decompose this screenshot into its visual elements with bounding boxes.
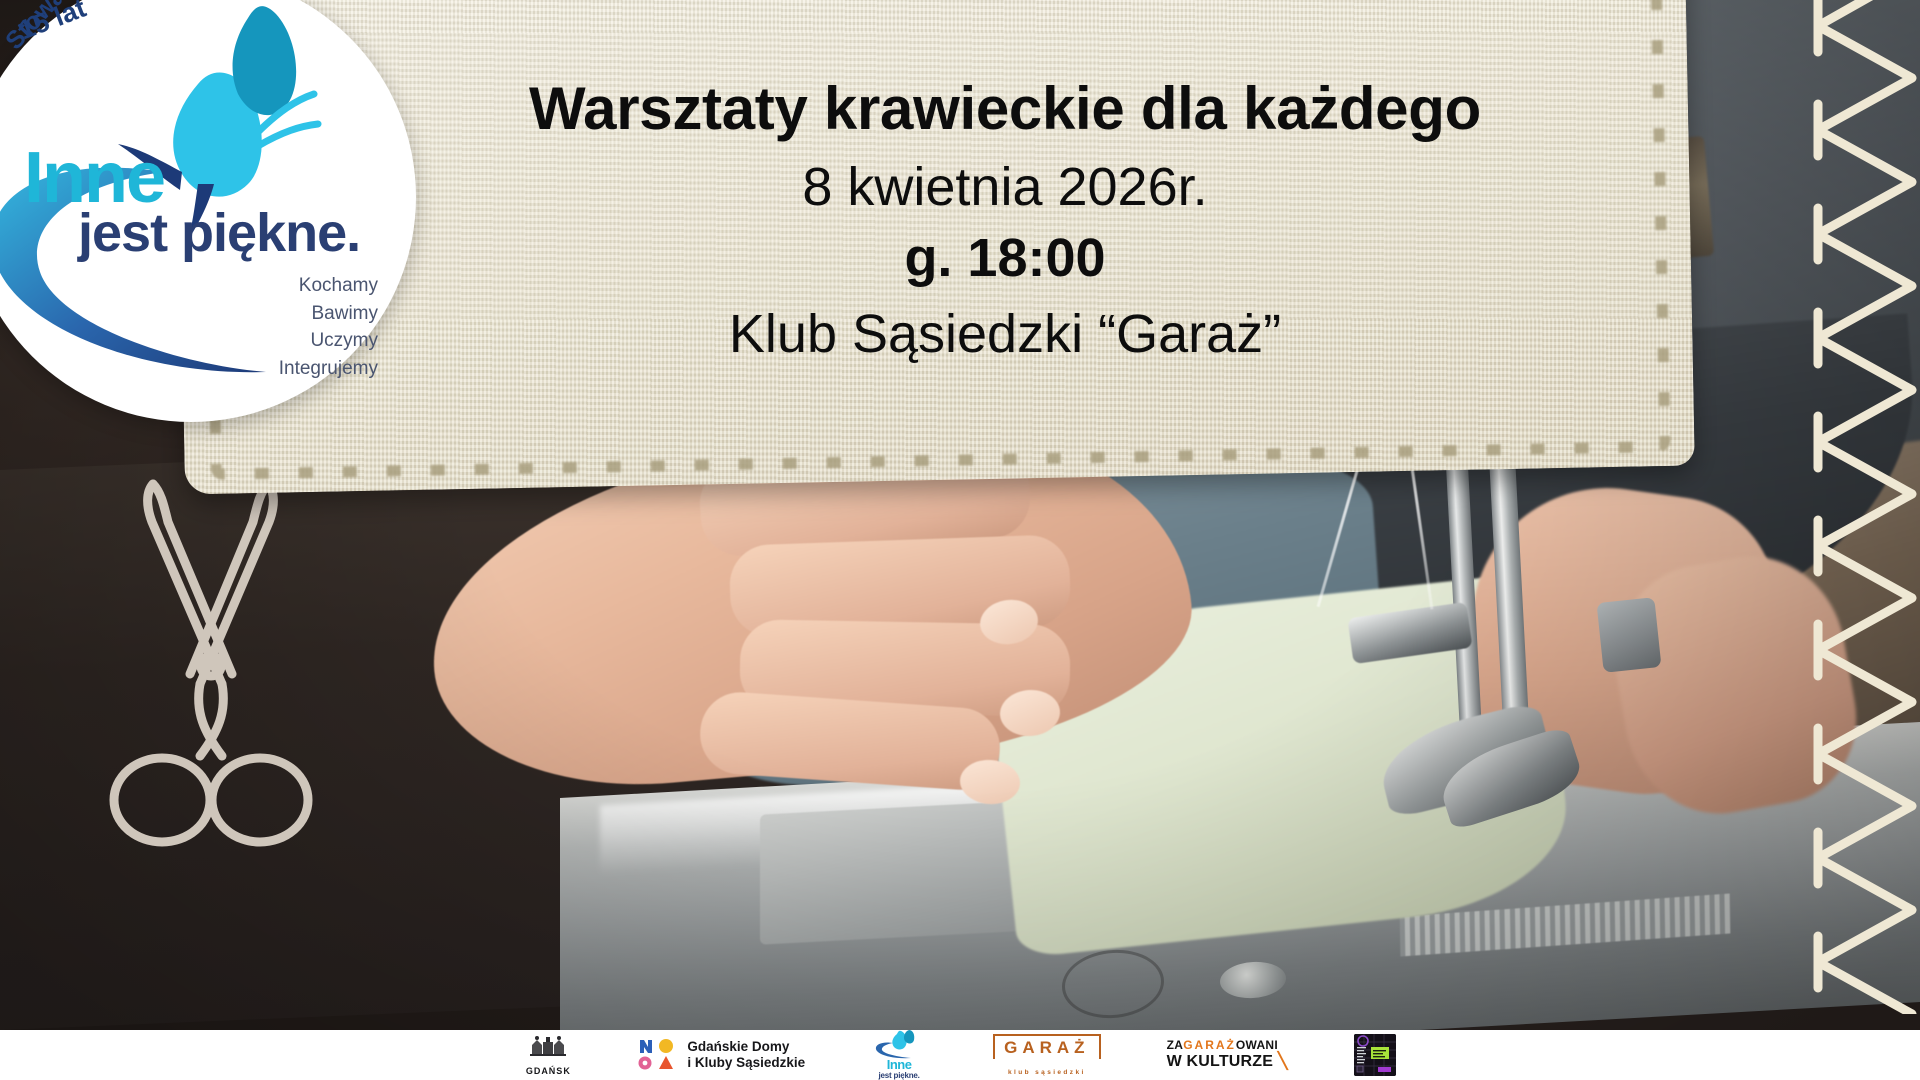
garaz-word: GARAŻ — [1004, 1038, 1089, 1058]
program-thumbnail-image — [1354, 1034, 1396, 1076]
event-date: 8 kwietnia 2026r. — [390, 156, 1620, 220]
zigzag-stitch-border — [1790, 0, 1920, 1014]
zagarazowani-line2-text: W KULTURZE — [1167, 1053, 1274, 1070]
gdanskie-domy-text: Gdańskie Domy i Kluby Sąsiedzkie — [687, 1039, 805, 1072]
gdansk-crest-icon — [524, 1034, 572, 1058]
event-poster: Warsztaty krawieckie dla każdego 8 kwiet… — [0, 0, 1920, 1080]
zagarazowani-line1: ZAGARAŻOWANI — [1167, 1039, 1288, 1052]
zagarazowani-highlight: GARAŻ — [1183, 1038, 1236, 1052]
gdanskie-domy-logo[interactable]: Gdańskie Domy i Kluby Sąsiedzkie — [638, 1038, 805, 1072]
badge-value-1: Bawimy — [279, 300, 378, 328]
gdansk-city-logo[interactable]: GDAŃSK — [524, 1034, 572, 1076]
garaz-frame: GARAŻ — [993, 1034, 1100, 1059]
badge-value-2: Uczymy — [279, 327, 378, 355]
inne-jest-piekne-logo[interactable]: Inne jest piękne. — [871, 1030, 927, 1080]
zagarazowani-prefix: ZA — [1167, 1038, 1184, 1052]
zagarazowani-slash-icon: ╲ — [1278, 1053, 1288, 1070]
poster-text-block: Warsztaty krawieckie dla każdego 8 kwiet… — [390, 74, 1620, 367]
inne-logo-line2: jest piękne. — [879, 1071, 920, 1080]
badge-values-list: Kochamy Bawimy Uczymy Integrujemy — [279, 272, 378, 382]
program-thumbnail-logo[interactable] — [1354, 1034, 1396, 1076]
inne-logo-line1: Inne — [879, 1058, 920, 1071]
badge-arc-text: 15 lat Stowarzyszenia — [0, 0, 284, 108]
badge-value-0: Kochamy — [279, 272, 378, 300]
gdanskie-domy-line2: i Kluby Sąsiedzkie — [687, 1055, 805, 1071]
association-logo-badge: 15 lat Stowarzyszenia Inne jest piękne. … — [0, 0, 416, 422]
badge-value-3: Integrujemy — [279, 355, 378, 383]
program-thumbnail-art — [1354, 1034, 1396, 1076]
gdanskie-domy-line1: Gdańskie Domy — [687, 1039, 805, 1055]
badge-name-bottom: jest piękne. — [78, 202, 360, 264]
page-title: Warsztaty krawieckie dla każdego — [390, 74, 1620, 144]
inne-butterfly-icon — [871, 1030, 927, 1060]
zagarazowani-suffix: OWANI — [1236, 1038, 1278, 1052]
event-time: g. 18:00 — [390, 227, 1620, 291]
event-place: Klub Sąsiedzki “Garaż” — [390, 303, 1620, 367]
zagarazowani-line2: W KULTURZE ╲ — [1167, 1053, 1288, 1071]
scissors-icon — [96, 470, 326, 850]
garaz-klub-sasiedzki-logo[interactable]: GARAŻ klub sąsiedzki — [993, 1034, 1100, 1076]
gdanskie-domy-icon — [638, 1038, 680, 1072]
footer-logo-strip: GDAŃSK Gdańskie Domy i Kluby Sąsiedzkie — [0, 1030, 1920, 1080]
zagarazowani-w-kulturze-logo[interactable]: ZAGARAŻOWANI W KULTURZE ╲ — [1167, 1039, 1288, 1070]
garaz-subtitle: klub sąsiedzki — [1008, 1069, 1086, 1076]
gdansk-label: GDAŃSK — [526, 1066, 571, 1076]
